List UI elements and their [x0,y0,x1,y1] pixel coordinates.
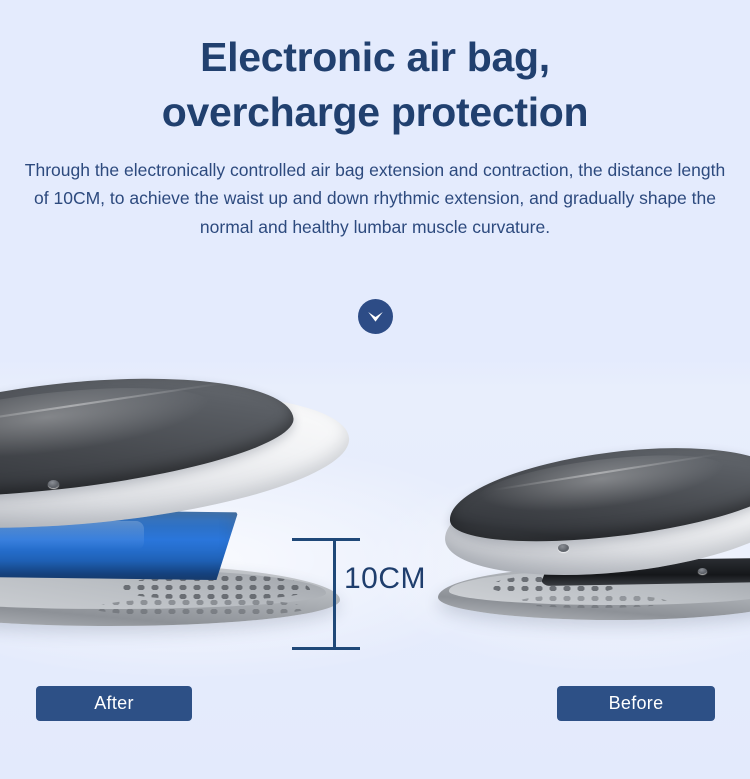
page-title: Electronic air bag, overcharge protectio… [0,0,750,140]
after-shell-port-right [48,480,59,488]
before-shell-port-right [698,568,707,574]
headline-line-2: overcharge protection [0,85,750,140]
before-shell-port-left [558,544,569,552]
scroll-hint-wrapper [0,299,750,334]
dimension-cap-bottom [292,647,360,650]
headline-line-1: Electronic air bag, [0,30,750,85]
dimension-label: 10CM [344,564,426,594]
dimension-line [333,538,336,650]
label-button-after[interactable]: After [36,686,192,721]
dimension-cap-top [292,538,360,541]
description-paragraph: Through the electronically controlled ai… [0,140,750,241]
before-tray-perforations-lower [518,594,668,608]
dimension-annotation: 10CM [292,538,432,658]
label-button-before[interactable]: Before [557,686,715,721]
header-copy-block: Electronic air bag, overcharge protectio… [0,0,750,241]
product-image-before [430,426,750,646]
after-tray-perforations-lower [95,598,305,616]
chevron-down-icon [366,310,385,324]
scroll-down-button[interactable] [358,299,393,334]
before-cap-sheen [475,445,729,523]
product-feature-page: Electronic air bag, overcharge protectio… [0,0,750,779]
